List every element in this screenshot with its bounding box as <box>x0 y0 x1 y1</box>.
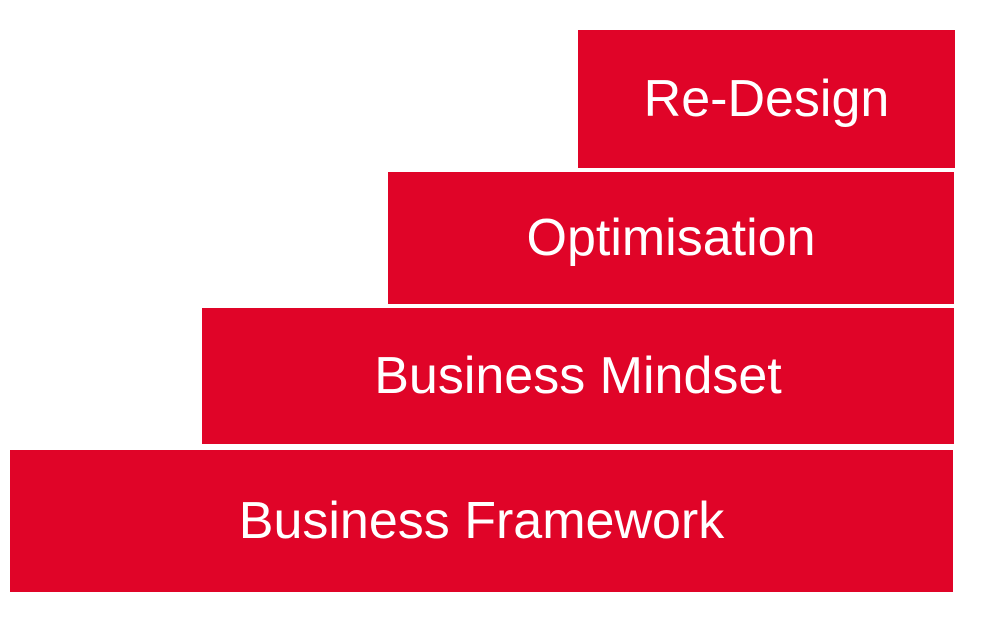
staircase-step-label: Re-Design <box>644 73 890 125</box>
staircase-step-label: Optimisation <box>527 212 816 264</box>
staircase-step-business-mindset[interactable]: Business Mindset <box>202 308 954 444</box>
staircase-step-label: Business Framework <box>239 495 724 547</box>
staircase-step-re-design[interactable]: Re-Design <box>578 30 955 168</box>
staircase-step-optimisation[interactable]: Optimisation <box>388 172 954 304</box>
staircase-diagram: Re-Design Optimisation Business Mindset … <box>0 0 1002 628</box>
staircase-step-label: Business Mindset <box>374 350 782 402</box>
staircase-step-business-framework[interactable]: Business Framework <box>10 450 953 592</box>
